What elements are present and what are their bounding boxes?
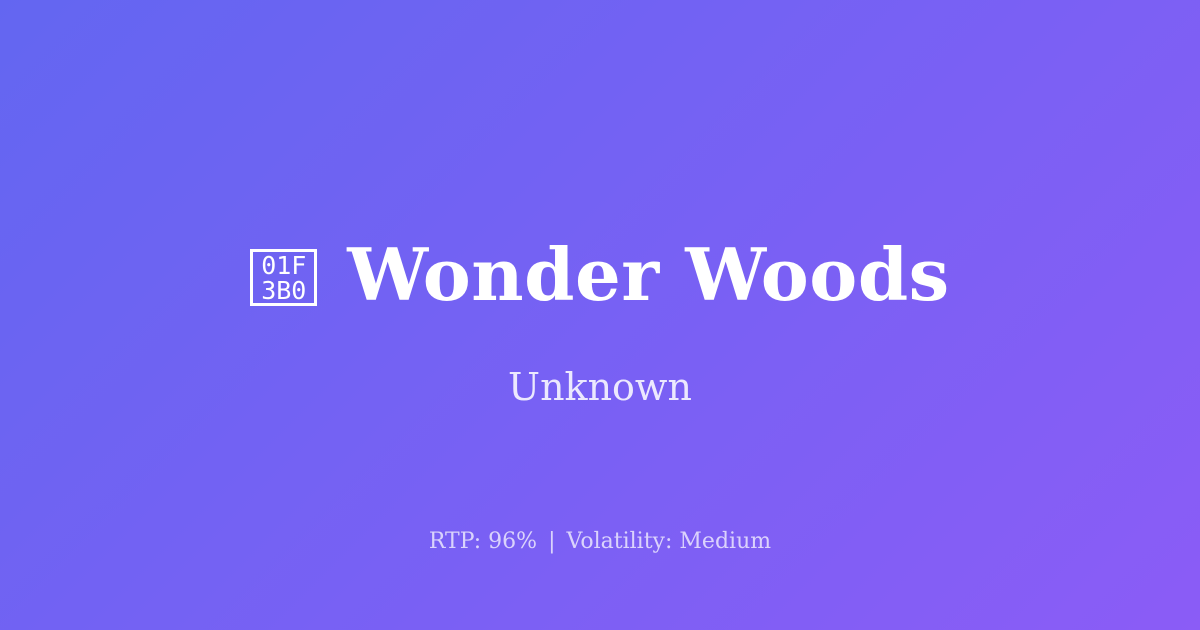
tofu-hex-top: 01F bbox=[261, 253, 306, 278]
slot-machine-icon: 01F 3B0 bbox=[250, 249, 317, 306]
og-card: 01F 3B0 Wonder Woods Unknown RTP: 96% | … bbox=[0, 0, 1200, 630]
rtp-label: RTP: bbox=[429, 529, 481, 554]
title-row: 01F 3B0 Wonder Woods bbox=[0, 232, 1200, 318]
volatility-value: Medium bbox=[679, 529, 771, 554]
stats-separator: | bbox=[544, 529, 559, 554]
volatility-label: Volatility: bbox=[567, 529, 673, 554]
provider-label: Unknown bbox=[0, 363, 1200, 411]
rtp-value: 96% bbox=[488, 529, 537, 554]
tofu-hex-bottom: 3B0 bbox=[261, 278, 306, 303]
page-title: Wonder Woods bbox=[347, 235, 949, 315]
game-stats: RTP: 96% | Volatility: Medium bbox=[0, 527, 1200, 557]
